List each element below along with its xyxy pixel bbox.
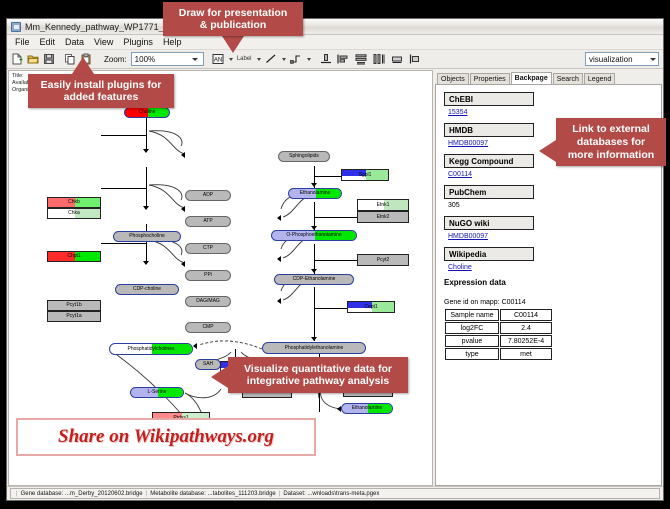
db-label-wikipedia: Wikipedia [444, 247, 534, 261]
edge-sgpl1-backbone [315, 176, 343, 177]
label-icon[interactable]: Label [236, 52, 253, 66]
gene-id-on-mapp: Gene id on mapp: C00114 [444, 299, 655, 306]
align-bottom-icon[interactable] [319, 52, 333, 66]
node-l-serine-left-label: L-Serine [148, 390, 167, 395]
node-ethanolamine-right[interactable]: Ethanolamine [341, 403, 393, 414]
chevron-down-icon[interactable] [190, 53, 201, 65]
callout-draw-presentation-text: Draw for presentation & publication [179, 7, 288, 31]
node-cdp-choline-label: CDP-choline [133, 287, 161, 292]
node-phosphatidylethanolamine[interactable]: Phosphatidylethanolamine [262, 342, 366, 354]
db-link-kegg[interactable]: C00114 [448, 171, 655, 178]
zoom-value: 100% [135, 55, 155, 64]
expression-key-log2fc: log2FC [445, 322, 499, 334]
node-chkb-label: Chkb [68, 200, 80, 205]
arrowhead-cmp-in [277, 298, 281, 304]
font-icon[interactable]: AN [211, 52, 225, 66]
edge-pcyt2-backbone [315, 260, 359, 261]
font-dropdown-arrow[interactable] [227, 52, 234, 66]
expression-value-sample-name: C00114 [500, 309, 552, 321]
callout-draw-presentation-arrow [222, 36, 244, 53]
callout-install-plugins-text: Easily install plugins for added feature… [41, 79, 162, 103]
zoom-label: Zoom: [104, 55, 127, 64]
tool-bar: Zoom: 100% AN Label [7, 50, 663, 69]
align-left-icon[interactable] [335, 52, 351, 66]
node-ethanolamine-label: Ethanolamine [300, 191, 331, 196]
visualization-chevron-down-icon[interactable] [650, 53, 656, 65]
line-dropdown-arrow[interactable] [280, 52, 287, 66]
node-cdp-ethanolamine[interactable]: CDP-Ethanolamine [274, 274, 354, 285]
node-etnk2[interactable]: Etnk2 [357, 211, 409, 223]
db-value-pubchem: 305 [448, 202, 655, 209]
expression-value-type: met [500, 348, 552, 360]
table-row: Sample name C00114 [445, 309, 552, 321]
tab-legend[interactable]: Legend [584, 73, 615, 84]
line-icon[interactable] [264, 52, 278, 66]
node-etnk1-label: Etnk1 [377, 203, 390, 208]
db-label-nugo: NuGO wiki [444, 216, 534, 230]
status-separator-0: | [16, 491, 18, 497]
arrowhead-pc-from-pe [193, 343, 197, 349]
expression-value-pvalue: 7.80252E-4 [500, 335, 552, 347]
node-pcyt2-label: Pcyt2 [377, 258, 390, 263]
arrowhead-atp [181, 152, 185, 158]
label-dropdown-arrow[interactable] [255, 52, 262, 66]
node-o-phosphoethanolamine-label: O-Phosphoethanolamine [286, 233, 341, 238]
node-choline-top[interactable]: Choline [124, 107, 170, 118]
arrowhead-ptdcholine [143, 261, 149, 265]
node-ctp-label: CTP [203, 246, 213, 251]
callout-draw-presentation: Draw for presentation & publication [163, 2, 303, 36]
db-link-wikipedia[interactable]: Choline [448, 264, 655, 271]
node-ctp[interactable]: CTP [185, 243, 231, 254]
label-button-text: Label [237, 56, 252, 62]
edge-chpt1-to-backbone [101, 188, 147, 189]
node-dagmag[interactable]: DAG/MAG [185, 296, 231, 307]
visualization-value: visualization [589, 55, 633, 64]
db-link-chebi[interactable]: 15354 [448, 109, 655, 116]
open-folder-icon[interactable] [26, 52, 40, 66]
menu-item-edit[interactable]: Edit [35, 36, 61, 48]
save-icon[interactable] [42, 52, 56, 66]
menu-item-plugins[interactable]: Plugins [118, 36, 158, 48]
tab-backpage[interactable]: Backpage [511, 72, 552, 84]
node-cept1[interactable]: Cept1 [347, 301, 395, 313]
expression-key-sample-name: Sample name [445, 309, 499, 321]
side-panel-tabs: Objects Properties Backpage Search Legen… [435, 70, 662, 84]
order-icon[interactable] [407, 52, 423, 66]
status-dataset: Dataset: ...wnloads\trans-meta.pgex [283, 491, 379, 497]
callout-install-plugins: Easily install plugins for added feature… [28, 74, 174, 108]
db-label-kegg: Kegg Compound [444, 154, 534, 168]
db-label-pubchem: PubChem [444, 185, 534, 199]
db-link-nugo[interactable]: HMDB00097 [448, 233, 655, 240]
status-bar: | Gene database: ...m_Derby_20120602.bri… [7, 486, 663, 500]
db-label-hmdb: HMDB [444, 123, 534, 137]
status-metabolite-database: Metabolite database: ...tabolites_111203… [150, 491, 276, 497]
node-atp-label: ATP [203, 219, 212, 224]
callout-quantitative-data-text: Visualize quantitative data for integrat… [244, 363, 392, 387]
arrowhead-ppi [181, 206, 185, 212]
node-choline-top-label: Choline [139, 110, 156, 115]
expression-table: Sample name C00114 log2FC 2.4 pvalue 7.8… [444, 308, 553, 361]
share-wikipathways-box: Share on Wikipathways.org [16, 418, 316, 456]
db-label-chebi: ChEBI [444, 92, 534, 106]
new-file-icon[interactable] [10, 52, 24, 66]
expression-key-pvalue: pvalue [445, 335, 499, 347]
arrowhead-phosphocholine [143, 149, 149, 153]
node-ethanolamine-right-label: Ethanolamine [352, 406, 383, 411]
node-cmp-label: CMP [202, 325, 213, 330]
node-phosphatidylcholines[interactable]: Phosphatidylcholines [109, 343, 193, 355]
tab-objects[interactable]: Objects [437, 73, 469, 84]
arrowhead-adp-in [277, 215, 281, 221]
menu-item-view[interactable]: View [89, 36, 118, 48]
node-adp-label: ADP [203, 193, 213, 198]
menu-item-file[interactable]: File [10, 36, 35, 48]
edge-etnk-backbone [315, 217, 359, 218]
node-etnk1[interactable]: Etnk1 [357, 199, 409, 211]
connector-dropdown-arrow[interactable] [305, 52, 312, 66]
expression-data-heading: Expression data [444, 278, 655, 287]
node-cdp-choline[interactable]: CDP-choline [115, 284, 179, 295]
arrowhead-cdpeth [311, 269, 317, 273]
node-chpt1-label: Chpt1 [67, 254, 80, 259]
node-sphingolipids[interactable]: Sphingolipids [278, 151, 330, 162]
callout-quantitative-data: Visualize quantitative data for integrat… [228, 357, 408, 393]
node-pcyt1b-label: Pcyt1b [66, 303, 81, 308]
table-row: type met [445, 348, 552, 360]
node-ppi-label: PPi [204, 273, 212, 278]
tab-search[interactable]: Search [553, 73, 583, 84]
zoom-combo[interactable]: 100% [131, 52, 204, 66]
node-chka[interactable]: Chka [47, 208, 101, 219]
expression-value-log2fc: 2.4 [500, 322, 552, 334]
node-pcyt1b[interactable]: Pcyt1b [47, 300, 101, 311]
tab-properties[interactable]: Properties [470, 73, 510, 84]
node-phosphocholine-label: Phosphocholine [129, 234, 165, 239]
status-gene-database: Gene database: ...m_Derby_20120602.bridg… [21, 491, 143, 497]
distribute-horizontal-icon[interactable] [371, 52, 387, 66]
node-etnk2-label: Etnk2 [377, 215, 390, 220]
group-icon[interactable] [389, 52, 405, 66]
edge-cdpcholine-ptdcholine [146, 224, 147, 264]
node-pcyt2[interactable]: Pcyt2 [357, 254, 409, 266]
node-ppi[interactable]: PPi [185, 270, 231, 281]
edge-pcyt1-to-backbone [101, 243, 147, 244]
node-pcyt1a[interactable]: Pcyt1a [47, 311, 101, 322]
svg-text:AN: AN [214, 58, 222, 64]
node-l-serine-left[interactable]: L-Serine [130, 387, 184, 398]
node-sphingolipids-label: Sphingolipids [289, 154, 319, 159]
arrowhead-cdpcholine [143, 206, 149, 210]
connector-icon[interactable] [289, 52, 303, 66]
arrowhead-cmp [181, 261, 185, 267]
app-icon [11, 22, 21, 32]
edge-cdpeth-ptdeth [314, 287, 315, 341]
node-sgpl1[interactable]: Sgpl1 [341, 169, 389, 181]
node-cept1-label: Cept1 [364, 305, 377, 310]
title-bar: Mm_Kennedy_pathway_WP1771_45176.gpml [7, 19, 663, 35]
node-chka-label: Chka [68, 211, 80, 216]
expression-key-type: type [445, 348, 499, 360]
share-wikipathways-text: Share on Wikipathways.org [58, 426, 274, 448]
callout-external-links: Link to external databases for more info… [556, 118, 666, 166]
table-row: pvalue 7.80252E-4 [445, 335, 552, 347]
node-sgpl1-label: Sgpl1 [359, 173, 372, 178]
node-o-phosphoethanolamine[interactable]: O-Phosphoethanolamine [271, 230, 357, 241]
node-phosphatidylethanolamine-label: Phosphatidylethanolamine [285, 346, 344, 351]
edge-cept1-backbone [315, 308, 349, 309]
arrowhead-ppi-in [277, 256, 281, 262]
arrowhead-ptdeth [311, 337, 317, 341]
node-ethanolamine[interactable]: Ethanolamine [288, 188, 342, 199]
node-atp[interactable]: ATP [185, 216, 231, 227]
menu-item-data[interactable]: Data [60, 36, 89, 48]
menu-item-help[interactable]: Help [158, 36, 187, 48]
node-chpt1[interactable]: Chpt1 [47, 251, 101, 262]
status-separator-1: | [146, 491, 148, 497]
node-phosphatidylcholines-label: Phosphatidylcholines [128, 347, 175, 352]
node-chkb[interactable]: Chkb [47, 197, 101, 208]
menu-bar: File Edit Data View Plugins Help [7, 35, 663, 50]
node-cdp-ethanolamine-label: CDP-Ethanolamine [293, 277, 336, 282]
status-separator-2: | [279, 491, 281, 497]
node-dagmag-label: DAG/MAG [196, 299, 220, 304]
node-adp[interactable]: ADP [185, 190, 231, 201]
status-bar-content: | Gene database: ...m_Derby_20120602.bri… [10, 488, 660, 499]
visualization-combo[interactable]: visualization [585, 52, 659, 66]
arrowhead-ethanolamine [311, 183, 317, 187]
edge-chk-to-backbone [101, 135, 147, 136]
node-cmp[interactable]: CMP [185, 322, 231, 333]
callout-external-links-text: Link to external databases for more info… [568, 123, 654, 162]
node-pcyt1a-label: Pcyt1a [66, 314, 81, 319]
distribute-vertical-icon[interactable] [353, 52, 369, 66]
table-row: log2FC 2.4 [445, 322, 552, 334]
node-phosphocholine[interactable]: Phosphocholine [113, 231, 181, 242]
